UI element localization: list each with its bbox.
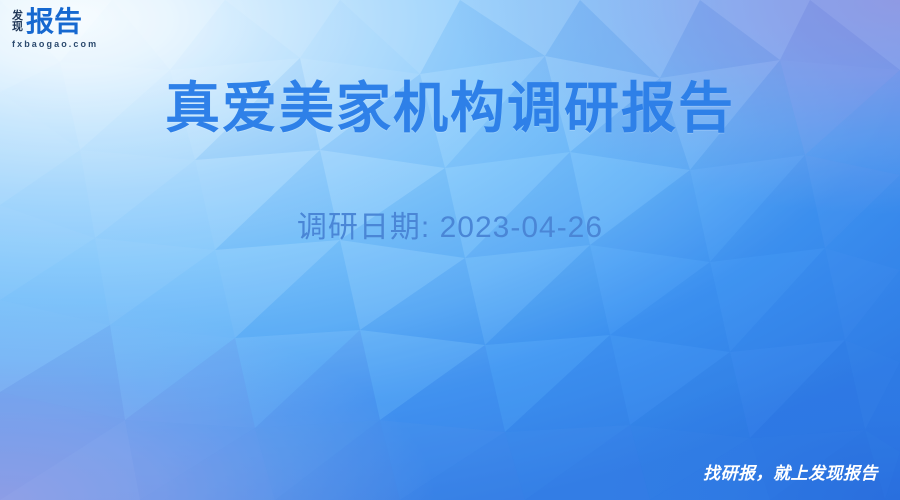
logo-wordmark-row: 发 现 报告 (12, 8, 82, 36)
fxbaogao-logo[interactable]: 发 现 报告 fxbaogao.com (12, 8, 98, 49)
logo-stacked-characters: 发 现 (12, 11, 23, 33)
footer-tagline: 找研报，就上发现报告 (703, 459, 878, 484)
logo-domain-text: fxbaogao.com (12, 39, 98, 49)
page-title: 真爱美家机构调研报告 (0, 78, 900, 140)
report-cover-slide: 发 现 报告 fxbaogao.com 真爱美家机构调研报告 调研日期: 202… (0, 0, 900, 500)
logo-char-xian: 现 (12, 22, 23, 33)
survey-date-subtitle: 调研日期: 2023-04-26 (0, 202, 900, 246)
logo-main-text: 报告 (26, 8, 82, 36)
cover-text-block: 真爱美家机构调研报告 调研日期: 2023-04-26 (0, 78, 900, 246)
low-poly-background-pattern (0, 0, 900, 500)
